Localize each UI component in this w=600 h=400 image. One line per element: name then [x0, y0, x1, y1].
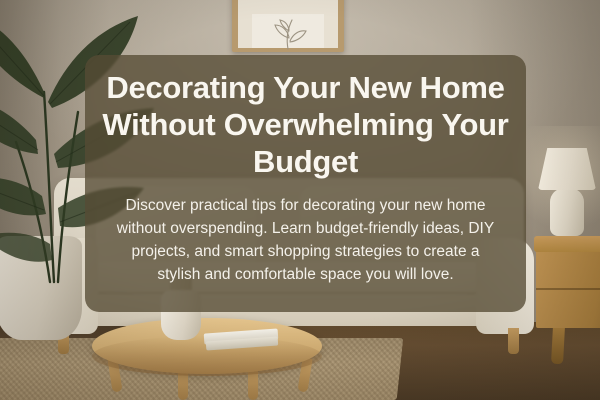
lamp-base [550, 188, 584, 236]
hero-banner: Decorating Your New Home Without Overwhe… [0, 0, 600, 400]
sofa-leg [508, 328, 519, 354]
table-lamp [538, 148, 596, 190]
page-title: Decorating Your New Home Without Overwhe… [99, 69, 512, 180]
side-table-drawer-line [536, 288, 600, 290]
side-table-leg [551, 326, 565, 365]
leaf-drawing-icon [258, 16, 320, 50]
side-table-top [534, 236, 600, 252]
overlay-content: Decorating Your New Home Without Overwhe… [85, 55, 526, 312]
page-description: Discover practical tips for decorating y… [110, 194, 502, 286]
